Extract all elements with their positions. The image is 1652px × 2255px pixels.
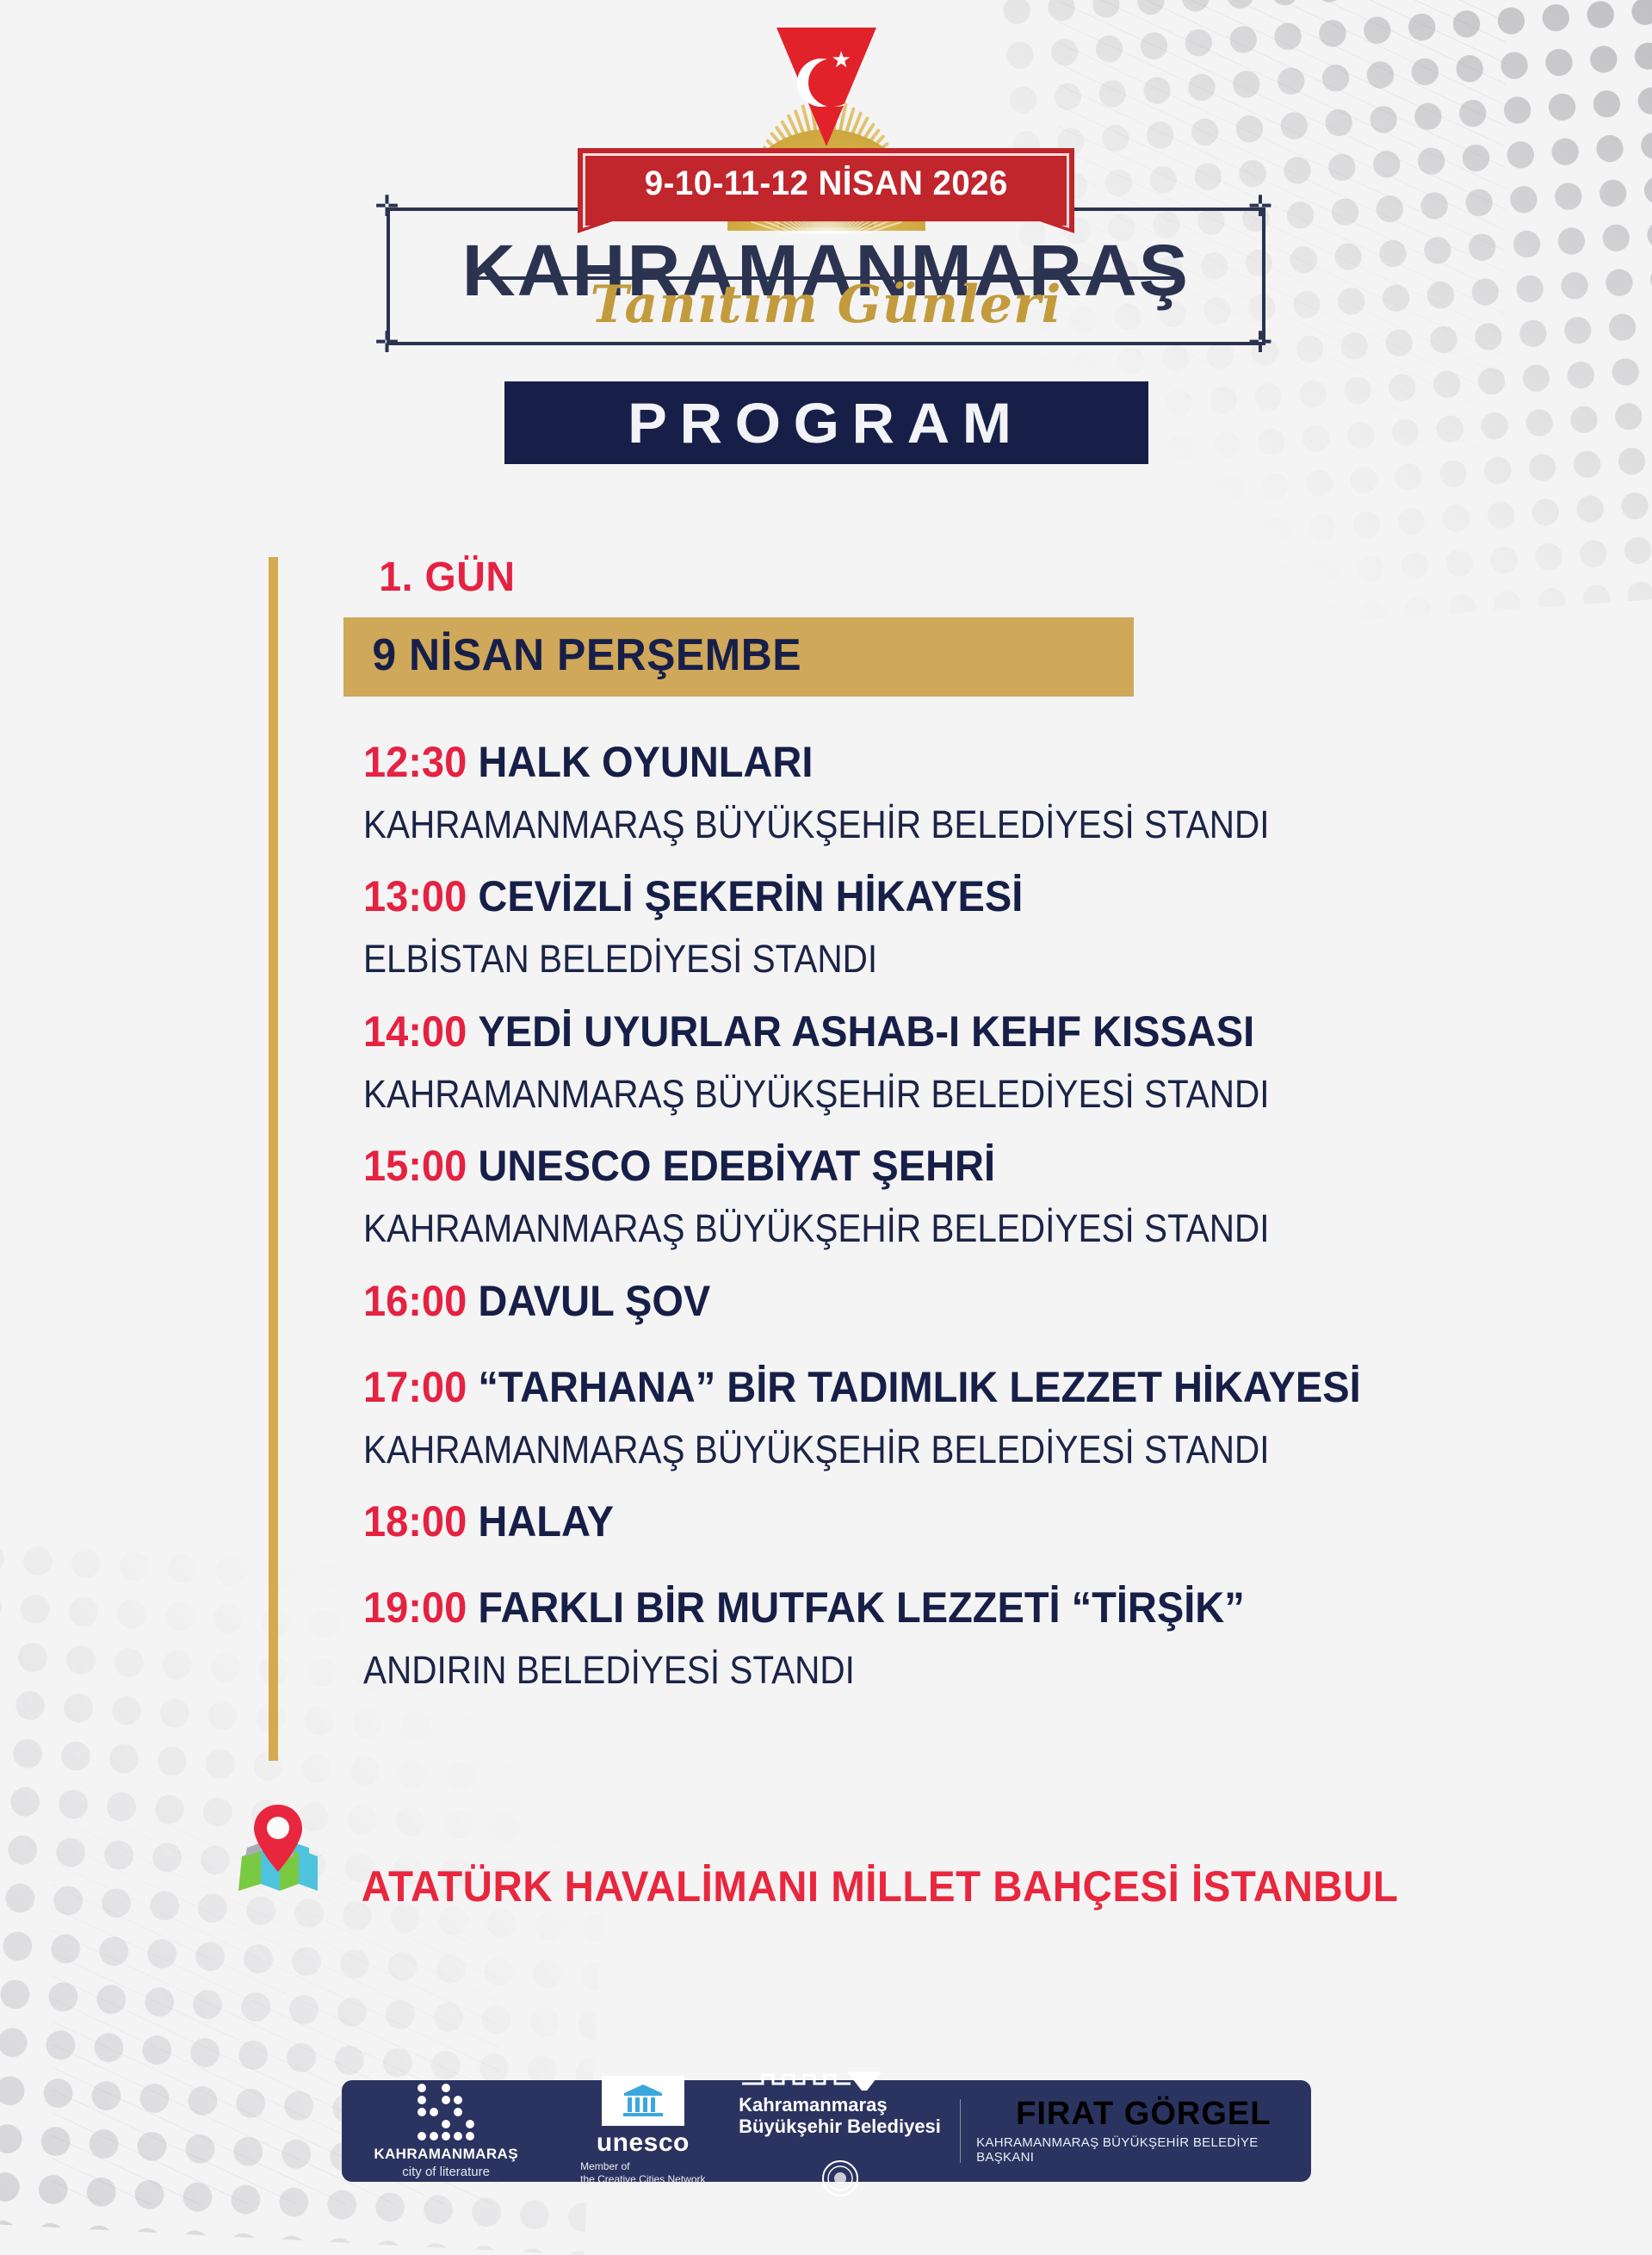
schedule-entry-line: 14:00YEDİ UYURLAR ASHAB-I KEHF KISSASI [363,1004,1351,1059]
schedule-entry-venue: KAHRAMANMARAŞ BÜYÜKŞEHİR BELEDİYESİ STAN… [363,1204,1309,1254]
date-ribbon: 9-10-11-12 NİSAN 2026 [578,148,1075,233]
schedule-entry-venue: ELBİSTAN BELEDİYESİ STANDI [363,934,1309,985]
event-logo: ★ 9-10-11-12 NİSAN 2026 ✛ ✛ ✛ ✛ KAHRAMAN… [0,0,1652,464]
program-banner-text: PROGRAM [628,390,1024,455]
schedule-entry-venue: ANDIRIN BELEDİYESİ STANDI [363,1645,1309,1696]
schedule-entry-title: CEVİZLİ ŞEKERİN HİKAYESİ [478,872,1023,920]
location-section: ATATÜRK HAVALİMANI MİLLET BAHÇESİ İSTANB… [0,1800,1652,1911]
day-date-band: 9 NİSAN PERŞEMBE [343,617,1134,697]
city-of-literature-logo: KAHRAMANMARAŞ city of literature [342,2084,551,2179]
schedule-entry-line: 19:00FARKLI BİR MUTFAK LEZZETİ “TİRŞİK” [363,1580,1351,1635]
city-of-literature-sub: city of literature [402,2165,490,2179]
mayor-block: FIRAT GÖRGEL KAHRAMANMARAŞ BÜYÜKŞEHİR BE… [976,2097,1310,2165]
schedule-entry-time: 12:30 [363,738,467,786]
map-pin-icon [226,1800,330,1901]
schedule-entry-line: 16:00DAVUL ŞOV [363,1273,1351,1329]
schedule-entry-time: 16:00 [363,1277,467,1325]
program-banner: PROGRAM [504,381,1148,464]
schedule-entry: 12:30HALK OYUNLARIKAHRAMANMARAŞ BÜYÜKŞEH… [363,734,1414,851]
schedule-entry-time: 14:00 [363,1007,467,1056]
schedule-entry-title: HALK OYUNLARI [478,738,813,786]
schedule-section: 1. GÜN 9 NİSAN PERŞEMBE 12:30HALK OYUNLA… [269,557,1414,1696]
schedule-entry-venue: KAHRAMANMARAŞ BÜYÜKŞEHİR BELEDİYESİ STAN… [363,800,1309,851]
schedule-entry-venue: KAHRAMANMARAŞ BÜYÜKŞEHİR BELEDİYESİ STAN… [363,1425,1309,1476]
schedule-rail [269,557,278,1761]
ornament-corner-icon: ✛ [374,194,404,223]
poster-page: ★ 9-10-11-12 NİSAN 2026 ✛ ✛ ✛ ✛ KAHRAMAN… [0,0,1652,2204]
schedule-entry-line: 13:00CEVİZLİ ŞEKERİN HİKAYESİ [363,869,1351,924]
mayor-name: FIRAT GÖRGEL [1016,2097,1271,2130]
footer-divider [960,2099,961,2163]
schedule-entry: 13:00CEVİZLİ ŞEKERİN HİKAYESİELBİSTAN BE… [363,869,1414,985]
footer-bar: KAHRAMANMARAŞ city of literature unesco … [342,2080,1311,2182]
ornament-corner-icon: ✛ [1248,330,1278,359]
schedule-entry-time: 18:00 [363,1497,467,1546]
schedule-entry-title: FARKLI BİR MUTFAK LEZZETİ “TİRŞİK” [478,1583,1244,1632]
schedule-entry-time: 13:00 [363,872,467,920]
schedule-entry: 19:00FARKLI BİR MUTFAK LEZZETİ “TİRŞİK”A… [363,1580,1414,1696]
mayor-role: KAHRAMANMARAŞ BÜYÜKŞEHİR BELEDİYE BAŞKAN… [976,2135,1310,2165]
unesco-temple-icon [602,2076,684,2126]
schedule-entry-line: 18:00HALAY [363,1494,1351,1549]
schedule-entry-time: 17:00 [363,1363,467,1411]
schedule-entry: 15:00UNESCO EDEBİYAT ŞEHRİKAHRAMANMARAŞ … [363,1138,1414,1254]
unesco-logo: unesco Member of the Creative Cities Net… [551,2076,735,2187]
unesco-wordmark: unesco [597,2130,690,2156]
schedule-entry: 14:00YEDİ UYURLAR ASHAB-I KEHF KISSASIKA… [363,1004,1414,1120]
brand-title-frame: ✛ ✛ ✛ ✛ KAHRAMANMARAŞ Tanıtım Günleri [387,208,1265,345]
city-of-literature-blocks-icon [418,2084,474,2140]
ornament-corner-icon: ✛ [1248,194,1278,223]
location-label: ATATÜRK HAVALİMANI MİLLET BAHÇESİ İSTANB… [361,1862,1398,1911]
schedule-entry: 17:00“TARHANA” BİR TADIMLIK LEZZET HİKAY… [363,1360,1414,1476]
schedule-entry-title: “TARHANA” BİR TADIMLIK LEZZET HİKAYESİ [478,1363,1360,1411]
castle-wall-icon [739,2065,885,2091]
schedule-entry-title: YEDİ UYURLAR ASHAB-I KEHF KISSASI [478,1007,1254,1056]
schedule-entry-line: 17:00“TARHANA” BİR TADIMLIK LEZZET HİKAY… [363,1360,1351,1415]
unesco-member-line1: Member of [580,2160,705,2173]
city-of-literature-name: KAHRAMANMARAŞ [374,2146,518,2163]
schedule-entry-list: 12:30HALK OYUNLARIKAHRAMANMARAŞ BÜYÜKŞEH… [363,734,1414,1696]
brand-subtitle: Tanıtım Günleri [469,275,1183,335]
date-ribbon-text: 9-10-11-12 NİSAN 2026 [644,164,1007,203]
schedule-entry-line: 12:30HALK OYUNLARI [363,734,1351,790]
schedule-entry: 16:00DAVUL ŞOV [363,1273,1414,1329]
schedule-entry: 18:00HALAY [363,1494,1414,1549]
day-date-label: 9 NİSAN PERŞEMBE [372,629,801,681]
municipality-line1: Kahramanmaraş [739,2095,941,2116]
schedule-entry-title: HALAY [478,1497,614,1546]
municipality-logo: Kahramanmaraş Büyükşehir Belediyesi [735,2065,944,2196]
star-icon: ★ [832,48,851,71]
schedule-entry-time: 15:00 [363,1142,467,1190]
municipality-line2: Büyükşehir Belediyesi [739,2116,941,2137]
ornament-corner-icon: ✛ [374,330,404,359]
schedule-entry-time: 19:00 [363,1583,467,1632]
unesco-member-line2: the Creative Cities Network [580,2173,705,2186]
schedule-entry-title: UNESCO EDEBİYAT ŞEHRİ [478,1142,995,1190]
schedule-entry-venue: KAHRAMANMARAŞ BÜYÜKŞEHİR BELEDİYESİ STAN… [363,1069,1309,1120]
schedule-entry-title: DAVUL ŞOV [478,1277,710,1325]
schedule-entry-line: 15:00UNESCO EDEBİYAT ŞEHRİ [363,1138,1351,1193]
municipal-seal-icon [821,2159,859,2197]
day-number-label: 1. GÜN [379,557,1397,598]
